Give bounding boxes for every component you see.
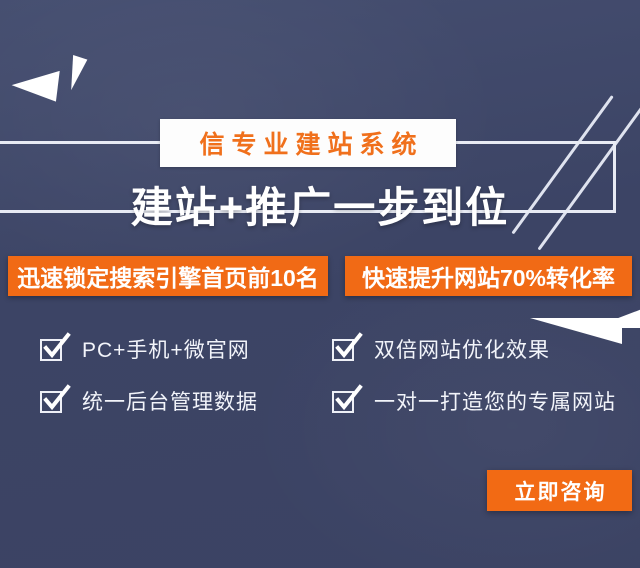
triangle-shape-small — [592, 306, 640, 328]
feature-list: PC+手机+微官网 双倍网站优化效果 统一后台管理数据 — [40, 334, 640, 416]
checkbox-checked-icon — [40, 388, 66, 414]
list-item-label: 一对一打造您的专属网站 — [374, 386, 616, 416]
brand-tag-label: 信专业建站系统 — [192, 125, 423, 161]
list-item: PC+手机+微官网 — [40, 334, 332, 364]
list-item-label: PC+手机+微官网 — [82, 334, 250, 364]
badge-row: 迅速锁定搜索引擎首页前10名 快速提升网站70%转化率 — [8, 256, 632, 296]
list-item-label: 双倍网站优化效果 — [374, 334, 550, 364]
checkbox-checked-icon — [332, 388, 358, 414]
page-title: 建站+推广一步到位 — [0, 176, 640, 232]
status-badge-ranking: 迅速锁定搜索引擎首页前10名 — [8, 256, 328, 296]
list-item: 双倍网站优化效果 — [332, 334, 640, 364]
badge-label: 快速提升网站70%转化率 — [362, 259, 615, 293]
list-item: 一对一打造您的专属网站 — [332, 386, 640, 416]
promo-banner: 信专业建站系统 建站+推广一步到位 迅速锁定搜索引擎首页前10名 快速提升网站7… — [0, 0, 640, 568]
checkbox-checked-icon — [332, 336, 358, 362]
status-badge-conversion: 快速提升网站70%转化率 — [345, 256, 632, 296]
paper-plane-small-icon — [63, 55, 88, 92]
checkbox-checked-icon — [40, 336, 66, 362]
list-item-label: 统一后台管理数据 — [82, 386, 258, 416]
badge-label: 迅速锁定搜索引擎首页前10名 — [17, 259, 319, 293]
consult-now-button[interactable]: 立即咨询 — [487, 470, 632, 511]
paper-plane-icon — [10, 65, 59, 101]
list-item: 统一后台管理数据 — [40, 386, 332, 416]
headline-text: 建站+推广一步到位 — [131, 174, 510, 235]
brand-tag: 信专业建站系统 — [160, 119, 456, 167]
consult-now-label: 立即咨询 — [513, 476, 607, 506]
